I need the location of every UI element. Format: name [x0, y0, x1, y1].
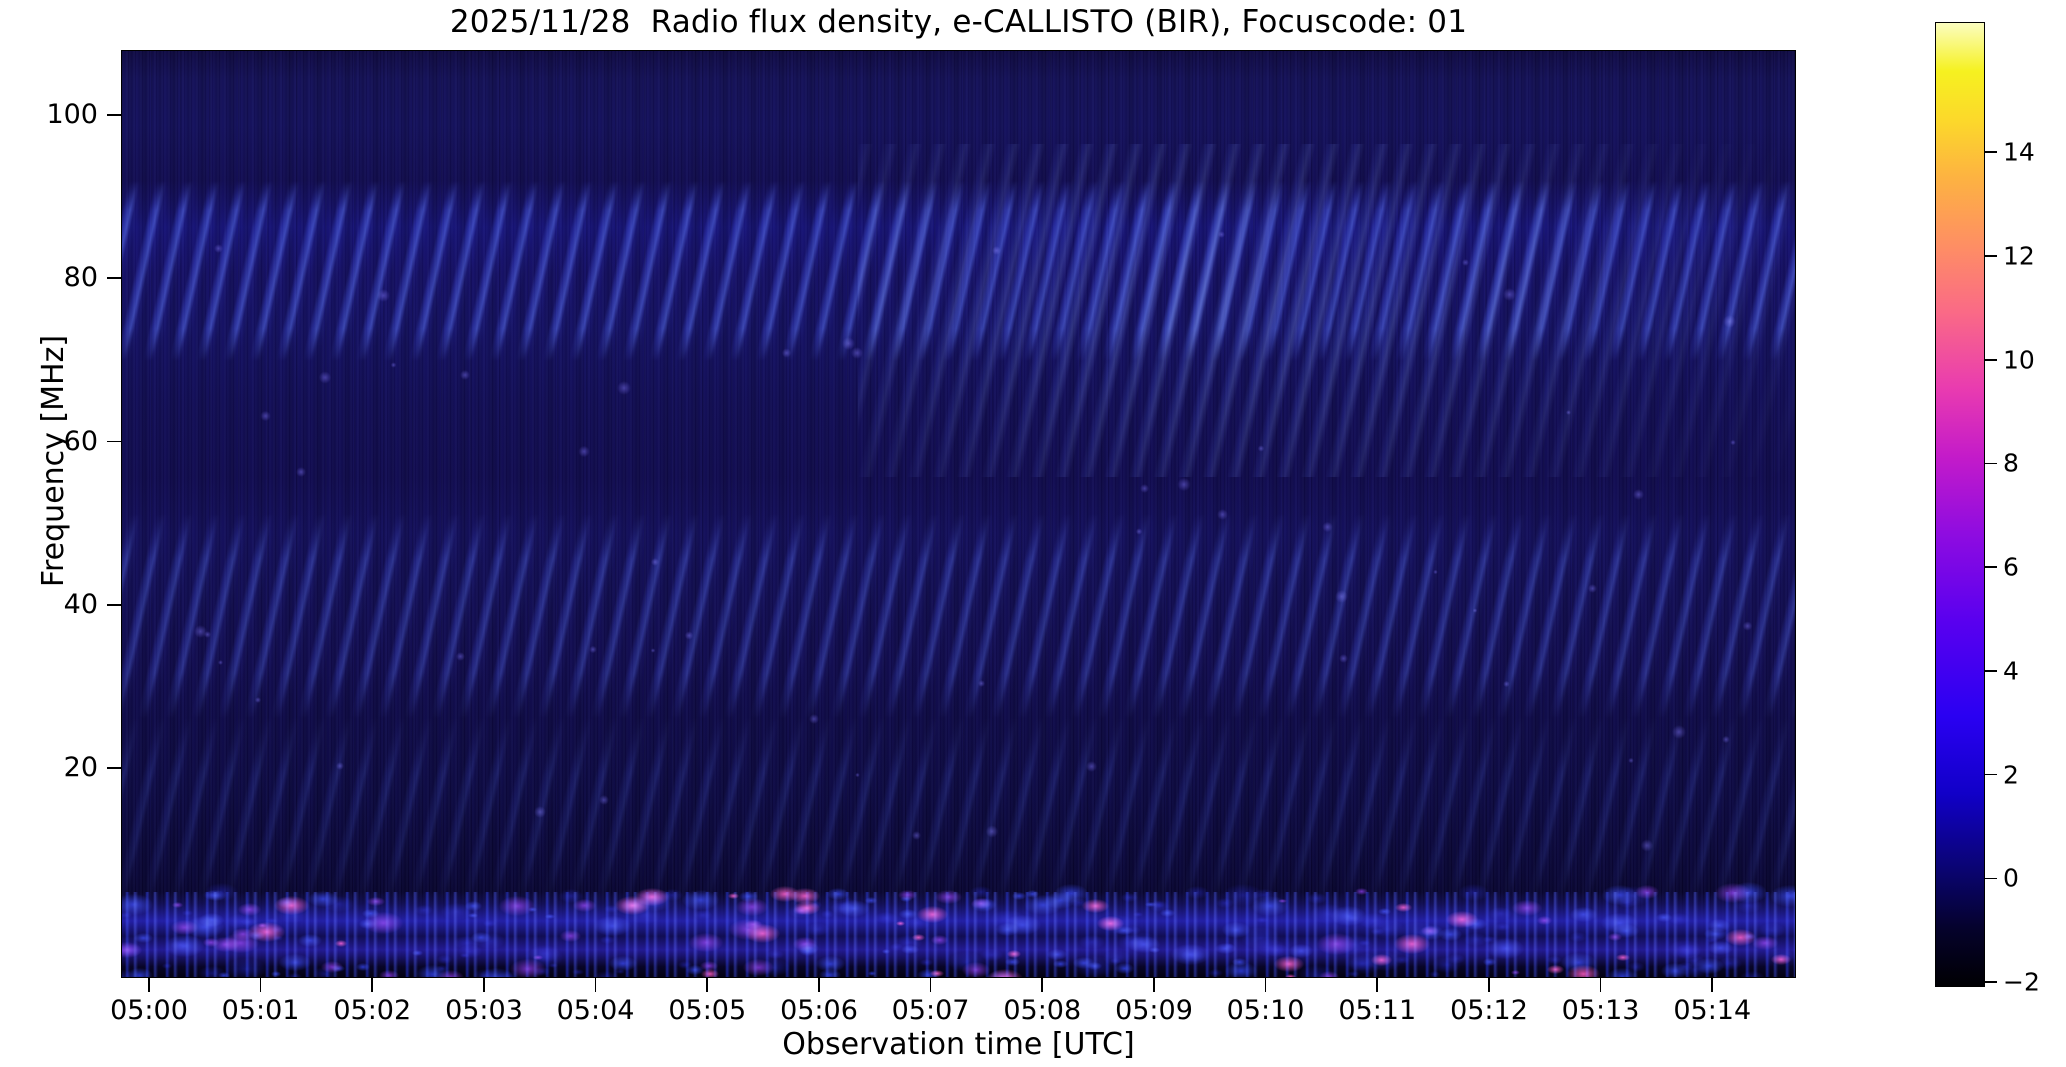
colorbar-tick-label: −2 [2003, 970, 2040, 995]
x-tick-label: 05:12 [1450, 996, 1528, 1026]
low-frequency-speckle-layer [122, 892, 1795, 977]
y-tick-label: 100 [0, 101, 98, 128]
x-tick-mark [1153, 978, 1155, 992]
colorbar-tick-label: 6 [2003, 555, 2019, 580]
x-tick-mark [706, 978, 708, 992]
rfi-diagonal-band-low [121, 718, 1796, 903]
x-tick-label: 05:05 [668, 996, 746, 1026]
x-tick-mark [1376, 978, 1378, 992]
colorbar-tick-label: 2 [2003, 762, 2019, 787]
colorbar-tick-mark [1985, 774, 1997, 776]
y-tick-mark [107, 114, 121, 116]
x-tick-label: 05:07 [892, 996, 970, 1026]
colorbar-tick-label: 14 [2003, 140, 2035, 165]
x-tick-label: 05:00 [110, 996, 188, 1026]
x-tick-label: 05:01 [222, 996, 300, 1026]
colorbar-tick-label: 8 [2003, 451, 2019, 476]
colorbar-gradient [1936, 23, 1984, 986]
x-tick-mark [930, 978, 932, 992]
x-tick-mark [1488, 978, 1490, 992]
x-tick-label: 05:13 [1562, 996, 1640, 1026]
colorbar-tick-mark [1985, 670, 1997, 672]
x-tick-label: 05:08 [1003, 996, 1081, 1026]
x-tick-label: 05:04 [557, 996, 635, 1026]
colorbar-tick-label: 12 [2003, 244, 2035, 269]
colorbar-tick-mark [1985, 359, 1997, 361]
x-tick-mark [483, 978, 485, 992]
x-tick-mark [260, 978, 262, 992]
colorbar-tick-mark [1985, 981, 1997, 983]
x-tick-mark [148, 978, 150, 992]
y-axis-title: Frequency [MHz] [37, 201, 71, 721]
colorbar-tick-mark [1985, 566, 1997, 568]
x-tick-mark [371, 978, 373, 992]
colorbar-tick-mark [1985, 255, 1997, 257]
x-tick-label: 05:09 [1115, 996, 1193, 1026]
y-tick-mark [107, 767, 121, 769]
colorbar-tick-label: 4 [2003, 658, 2019, 683]
x-tick-mark [818, 978, 820, 992]
y-tick-mark [107, 604, 121, 606]
y-tick-mark [107, 441, 121, 443]
spectrogram-axes[interactable] [121, 50, 1796, 978]
y-tick-mark [107, 277, 121, 279]
colorbar-tick-label: 0 [2003, 866, 2019, 891]
x-tick-mark [1711, 978, 1713, 992]
x-tick-label: 05:03 [445, 996, 523, 1026]
y-tick-label: 20 [0, 754, 98, 781]
x-tick-label: 05:11 [1338, 996, 1416, 1026]
colorbar-tick-mark [1985, 878, 1997, 880]
figure-canvas: 2025/11/28 Radio flux density, e-CALLIST… [0, 0, 2066, 1067]
colorbar-tick-label: 10 [2003, 347, 2035, 372]
colorbar-tick-mark [1985, 151, 1997, 153]
rfi-enhancement-after-0507 [858, 144, 1795, 477]
colorbar-tick-mark [1985, 463, 1997, 465]
x-tick-mark [1265, 978, 1267, 992]
x-tick-mark [1600, 978, 1602, 992]
x-tick-label: 05:06 [780, 996, 858, 1026]
x-tick-mark [595, 978, 597, 992]
x-tick-label: 05:10 [1227, 996, 1305, 1026]
x-axis-title: Observation time [UTC] [121, 1028, 1796, 1062]
colorbar[interactable] [1935, 22, 1985, 987]
x-tick-mark [1041, 978, 1043, 992]
x-tick-label: 05:14 [1673, 996, 1751, 1026]
x-tick-label: 05:02 [333, 996, 411, 1026]
chart-title: 2025/11/28 Radio flux density, e-CALLIST… [0, 4, 1917, 40]
rfi-diagonal-band-mid [121, 514, 1796, 718]
